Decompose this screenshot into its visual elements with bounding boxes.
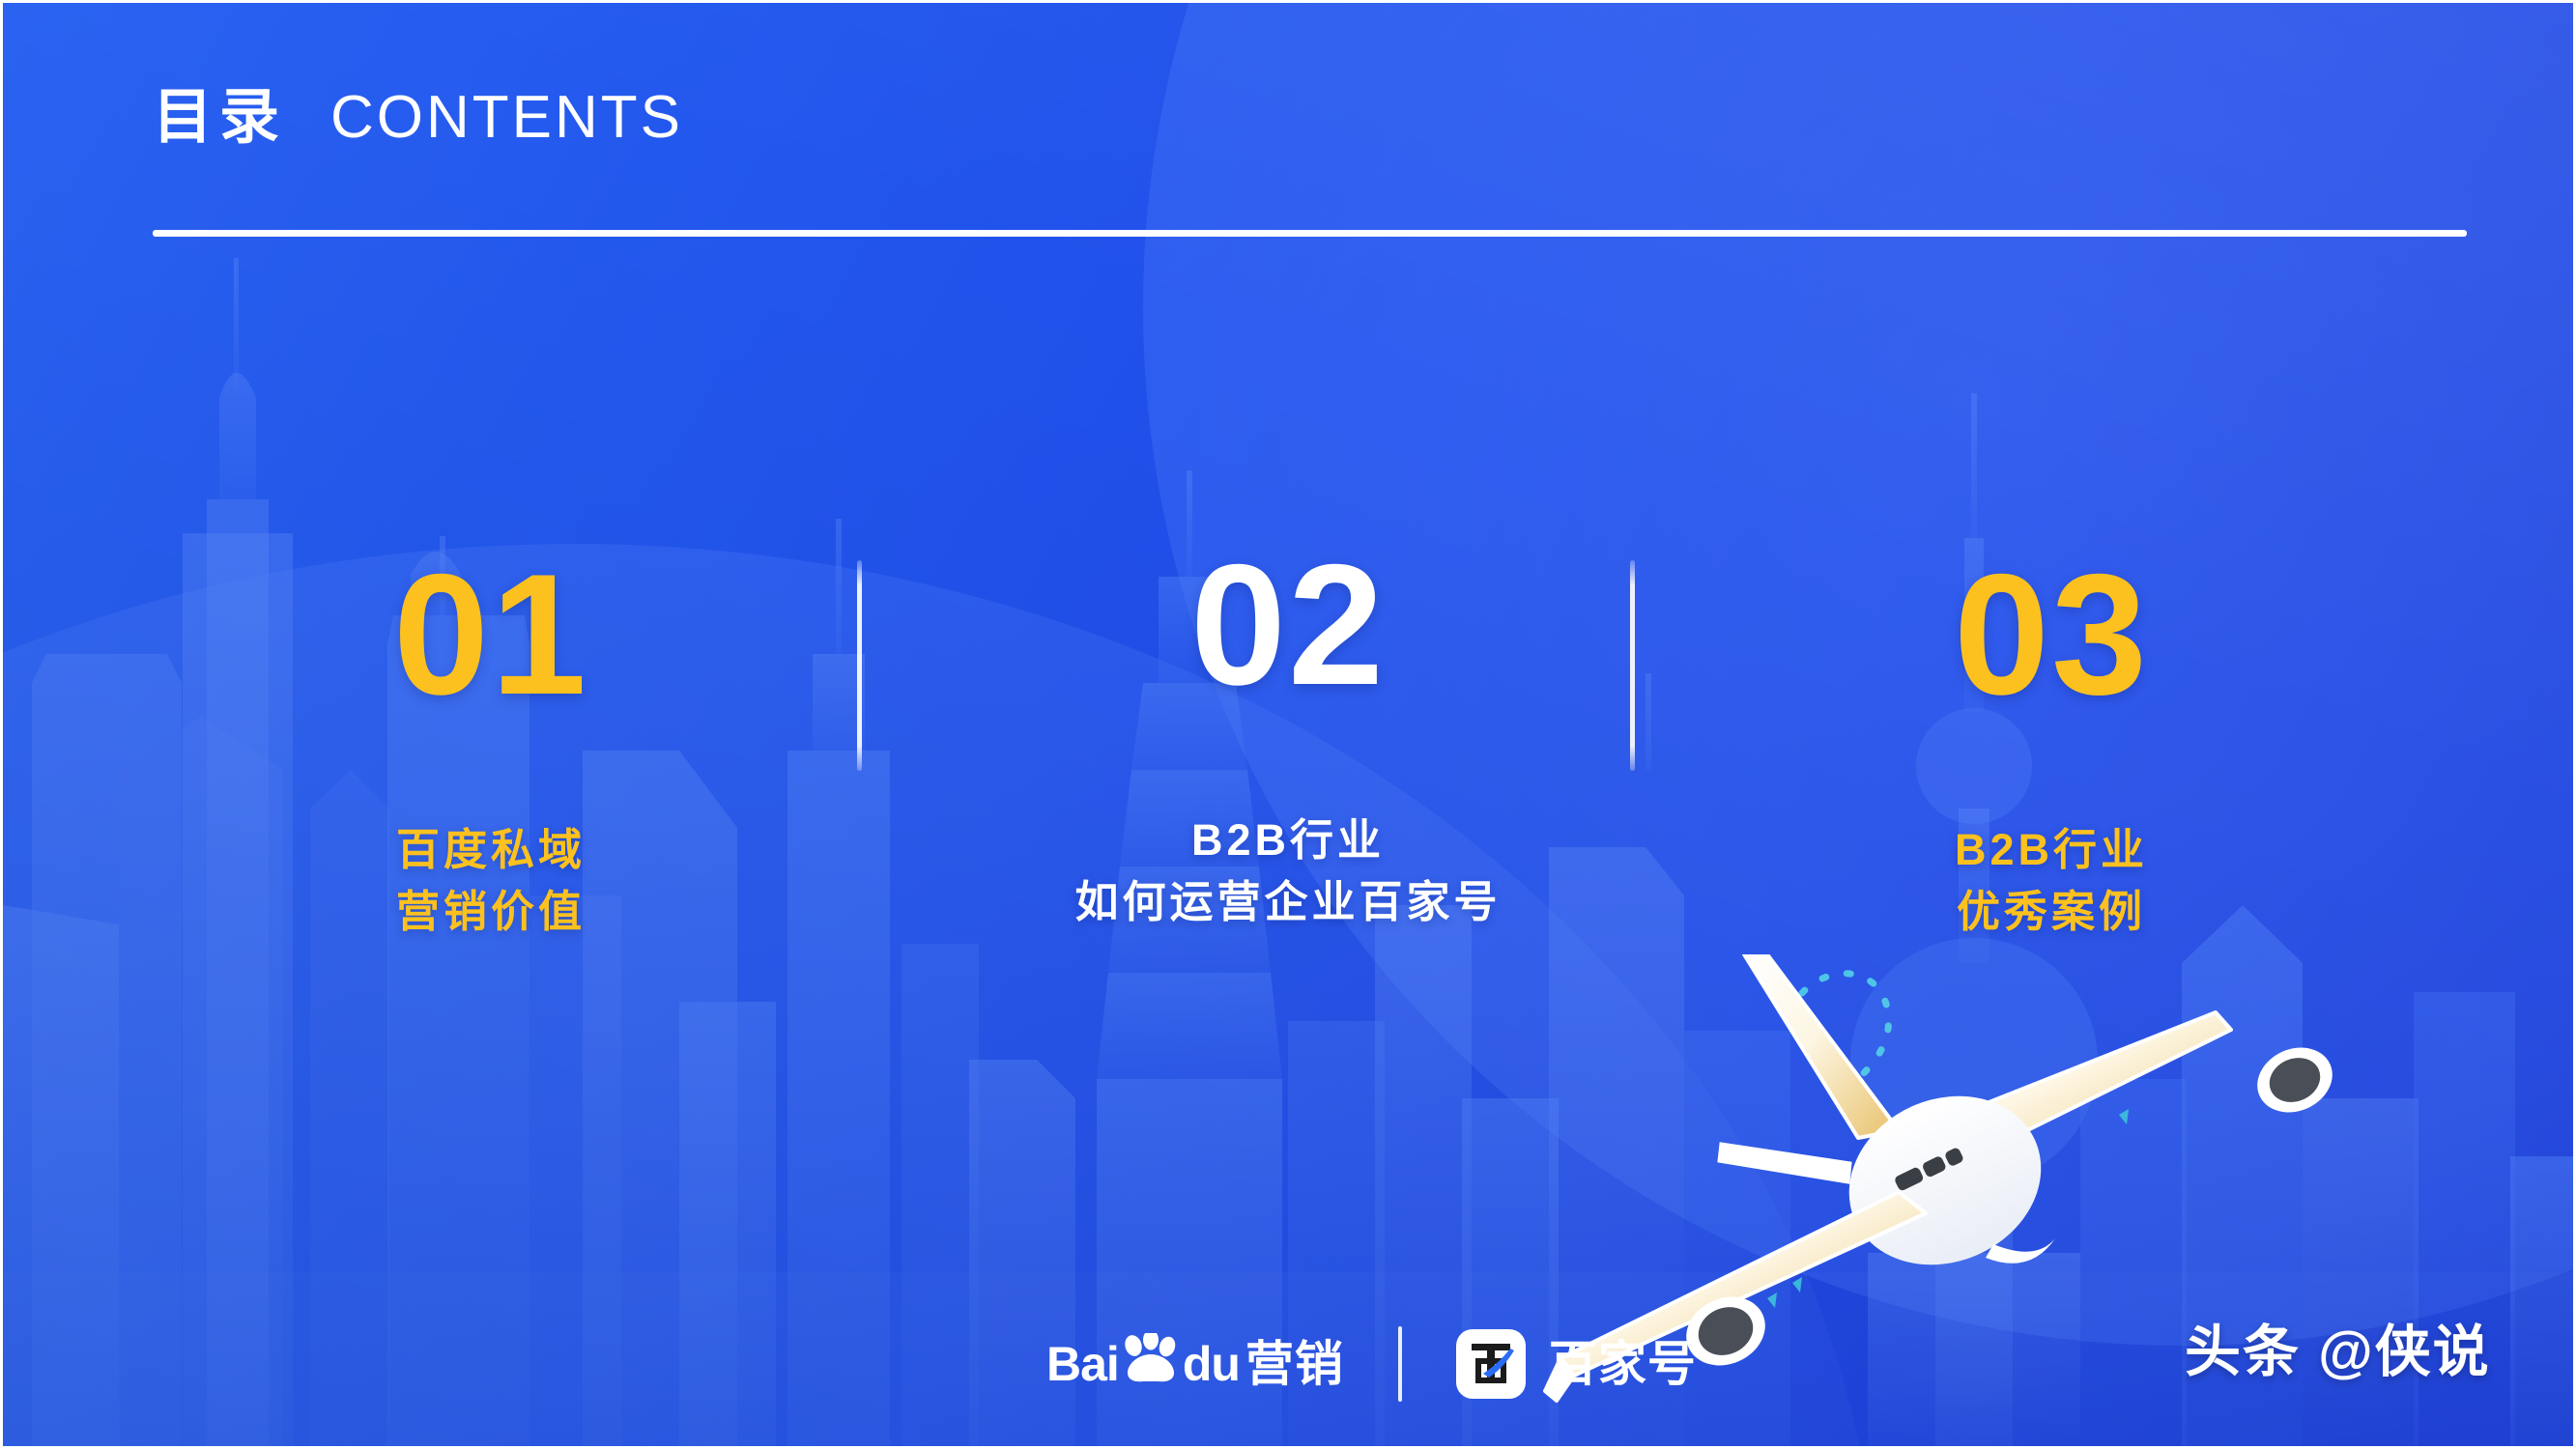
baijiahao-logo: 百家号 <box>1456 1329 1697 1399</box>
contents-item-02-number: 02 <box>950 539 1626 711</box>
contents-item-03-line2: 优秀案例 <box>1839 881 2264 943</box>
contents-item-03-line1: B2B行业 <box>1839 819 2264 881</box>
contents-item-03-caption: B2B行业 优秀案例 <box>1839 819 2264 943</box>
baijiahao-app-icon <box>1456 1329 1526 1399</box>
contents-item-02-line1: B2B行业 <box>950 810 1626 871</box>
contents-item-03[interactable]: 03 B2B行业 优秀案例 <box>1839 549 2264 943</box>
baijiahao-logo-text: 百家号 <box>1549 1340 1697 1388</box>
contents-item-02[interactable]: 02 B2B行业 如何运营企业百家号 <box>950 539 1626 933</box>
footer-logo-separator <box>1398 1326 1402 1402</box>
baijiahao-glyph-icon <box>1456 1329 1526 1399</box>
column-divider-2 <box>1630 560 1635 771</box>
baidu-logo-text-cn: 营销 <box>1245 1340 1344 1388</box>
baidu-logo-text-du: du <box>1183 1340 1240 1388</box>
baidu-logo-text-bai: Bai <box>1046 1340 1119 1388</box>
contents-item-03-number: 03 <box>1839 549 2264 721</box>
contents-item-01-number: 01 <box>278 549 703 721</box>
column-divider-1 <box>857 560 862 771</box>
contents-item-01-line1: 百度私域 <box>278 819 703 881</box>
footer-logos: Bai du 营销 <box>1046 1326 1697 1402</box>
slide-canvas: 目录 CONTENTS 01 百度私域 营销价值 02 B2B行业 如何运营企业… <box>0 0 2576 1449</box>
watermark-text: 头条 @侠说 <box>2185 1324 2491 1380</box>
contents-item-01-line2: 营销价值 <box>278 881 703 943</box>
contents-item-02-line2: 如何运营企业百家号 <box>950 871 1626 933</box>
contents-item-01[interactable]: 01 百度私域 营销价值 <box>278 549 703 943</box>
baidu-paw-icon <box>1121 1333 1181 1383</box>
contents-item-01-caption: 百度私域 营销价值 <box>278 819 703 943</box>
baidu-marketing-logo: Bai du 营销 <box>1046 1339 1344 1389</box>
contents-item-02-caption: B2B行业 如何运营企业百家号 <box>950 810 1626 933</box>
